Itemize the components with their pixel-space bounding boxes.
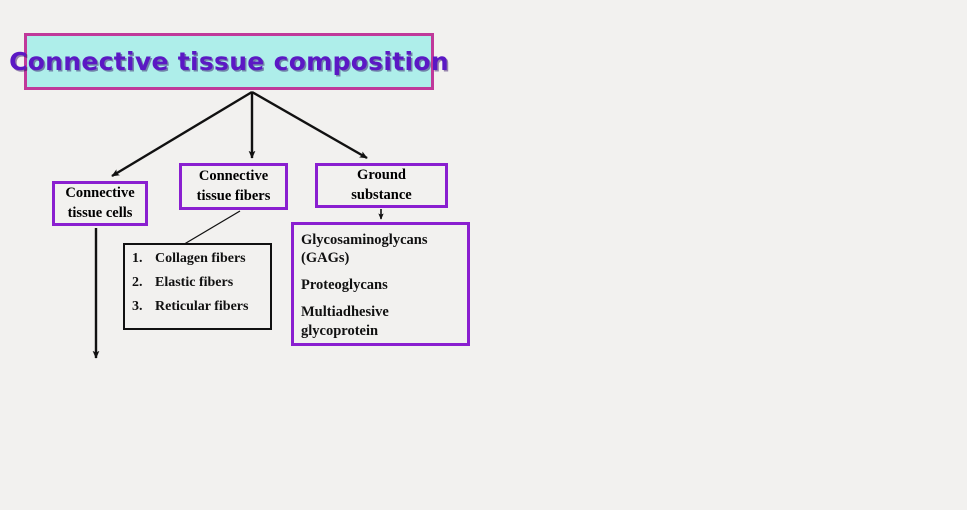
component-proteoglycans: Proteoglycans bbox=[301, 276, 467, 294]
list-item: 1. Collagen fibers bbox=[132, 251, 270, 267]
node-connective-tissue-cells: Connective tissue cells bbox=[52, 181, 148, 226]
diagram-title-box: Connective tissue composition bbox=[24, 33, 434, 90]
node-label-line2: substance bbox=[351, 186, 411, 206]
node-label-line2: tissue fibers bbox=[197, 187, 271, 207]
node-ground-substance: Ground substance bbox=[315, 163, 448, 208]
arrow-title-to-ground bbox=[252, 92, 367, 158]
list-item-label: Reticular fibers bbox=[155, 299, 248, 315]
line-fibers-to-fiber-list bbox=[181, 211, 240, 246]
list-item-number: 2. bbox=[132, 275, 155, 291]
list-item-label: Collagen fibers bbox=[155, 251, 246, 267]
list-item-number: 3. bbox=[132, 299, 155, 315]
diagram-canvas: Connective tissue composition Connective… bbox=[0, 0, 967, 510]
node-label-line1: Ground bbox=[357, 166, 406, 186]
list-item: 2. Elastic fibers bbox=[132, 275, 270, 291]
component-glycosaminoglycans: Glycosaminoglycans (GAGs) bbox=[301, 231, 467, 267]
list-item-label: Elastic fibers bbox=[155, 275, 233, 291]
node-label-line2: tissue cells bbox=[68, 204, 133, 224]
node-label-line1: Connective bbox=[199, 167, 268, 187]
fiber-types-list-box: 1. Collagen fibers 2. Elastic fibers 3. … bbox=[123, 243, 272, 330]
node-label-line1: Connective bbox=[65, 184, 134, 204]
node-connective-tissue-fibers: Connective tissue fibers bbox=[179, 163, 288, 210]
ground-substance-components-box: Glycosaminoglycans (GAGs) Proteoglycans … bbox=[291, 222, 470, 346]
list-item: 3. Reticular fibers bbox=[132, 299, 270, 315]
list-item-number: 1. bbox=[132, 251, 155, 267]
component-multiadhesive-glycoprotein: Multiadhesive glycoprotein bbox=[301, 303, 467, 339]
page-title: Connective tissue composition bbox=[9, 47, 449, 76]
